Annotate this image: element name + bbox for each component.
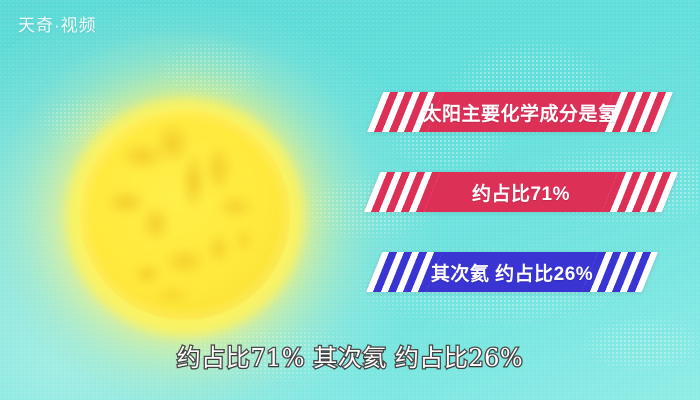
- banner-label: 太阳主要化学成分是氢: [375, 92, 665, 132]
- sun-illustration: [40, 72, 330, 362]
- caption-banner-hydrogen-percent: 约占比71%: [372, 172, 670, 212]
- sun-disc: [80, 110, 290, 320]
- channel-watermark: 天奇·视频: [18, 11, 97, 36]
- video-frame: 天奇·视频 太阳主要化学成分是氢 约占比71% 其次氦 约占比26% 约占比71…: [0, 0, 700, 400]
- caption-banner-helium-percent: 其次氦 约占比26%: [374, 252, 650, 292]
- banner-label: 约占比71%: [372, 172, 670, 212]
- banner-label: 其次氦 约占比26%: [374, 252, 650, 292]
- caption-banner-hydrogen-title: 太阳主要化学成分是氢: [375, 92, 665, 132]
- sun-rim-highlight: [80, 110, 290, 320]
- subtitle-text: 约占比71% 其次氦 约占比26%: [0, 338, 700, 373]
